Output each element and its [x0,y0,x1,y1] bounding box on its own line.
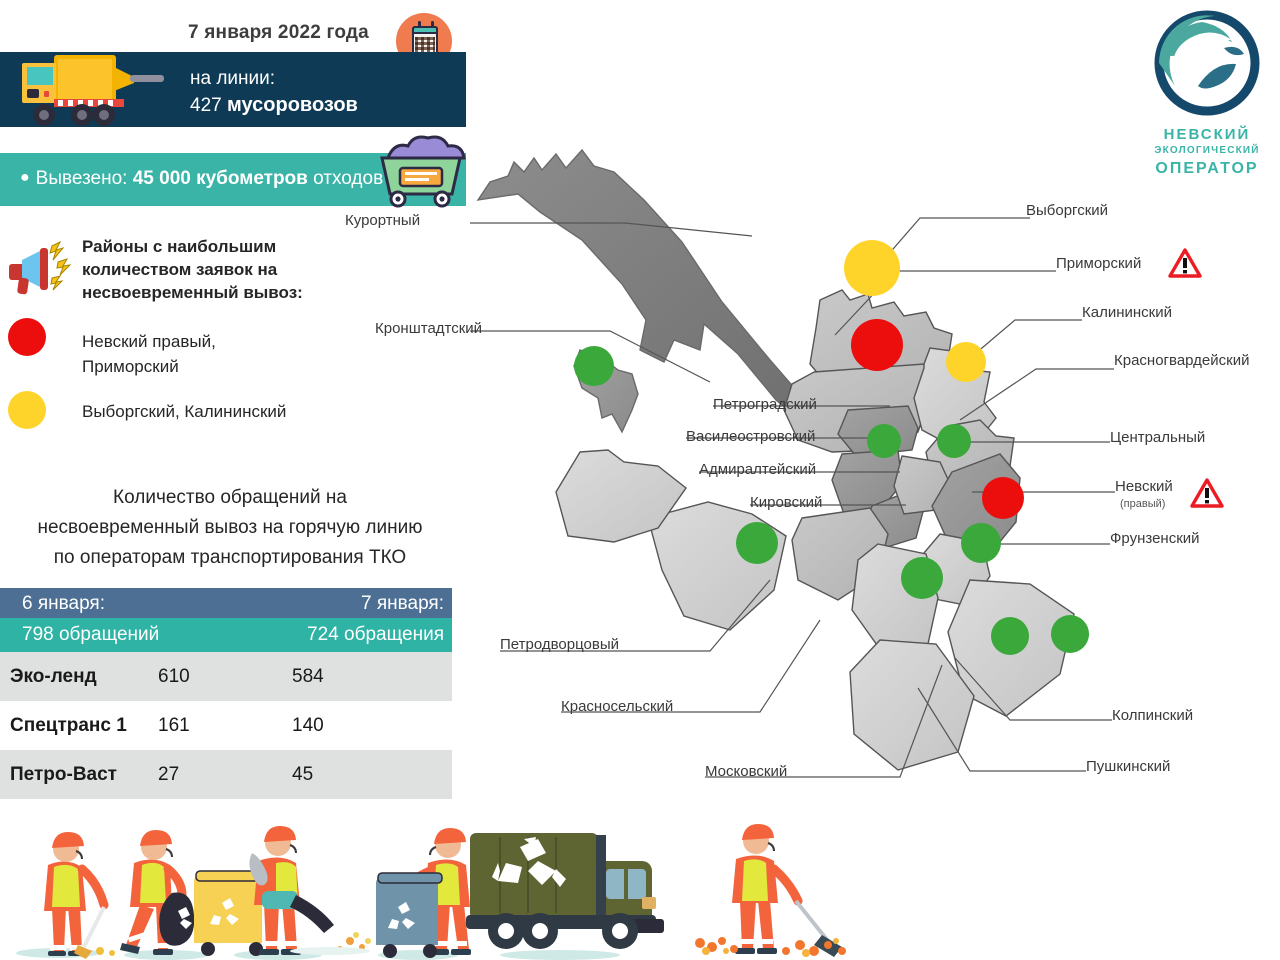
legend-title-line-1: Районы с наибольшим [82,235,303,258]
table-total-2: 724 обращения [307,624,444,646]
legend-dot-red [8,318,46,356]
logo-line-2: ЭКОЛОГИЧЕСКИЙ [1146,145,1268,156]
garbage-truck-icon [18,47,173,132]
table-row: Эко-ленд 610 584 [0,652,452,701]
map-label-kalininsky: Калининский [1082,304,1172,321]
table-title-line-1: Количество обращений на [0,483,460,513]
map-label-nevsky: Невский [1115,478,1173,495]
legend-label-red-line-1: Невский правый, [82,329,216,354]
operator-value-day2: 45 [292,764,313,786]
table-title-line-3: по операторам транспортирования ТКО [0,543,460,573]
map-label-krasnoselsky: Красносельский [561,698,673,715]
legend-title-line-2: количеством заявок на [82,258,303,281]
worker-pushing-bin [376,828,471,958]
company-logo: НЕВСКИЙ ЭКОЛОГИЧЕСКИЙ ОПЕРАТОР [1146,8,1268,188]
operator-name: Спецтранс 1 [10,715,127,737]
table-row: Спецтранс 1 161 140 [0,701,452,750]
on-line-label: на линии: [190,66,358,92]
map-label-kurortny: Курортный [345,212,420,229]
map-label-moskovsky: Московский [705,763,787,780]
table-header-dates: 6 января: 7 января: [0,588,452,618]
megaphone-icon [8,238,74,298]
map-label-kirovsky: Кировский [750,494,822,511]
operator-name: Эко-ленд [10,666,97,688]
on-line-value: 427 мусоровозов [190,92,358,119]
table-title-line-2: несвоевременный вывоз на горячую линию [0,513,460,543]
map-label-petrogradsky: Петроградский [713,396,817,413]
garbage-truck-illustration [466,833,664,949]
map-label-admiralteysky: Адмиралтейский [699,461,816,478]
marker-kalininsky [946,342,986,382]
bullet-icon: ● [20,169,30,186]
marker-frunzensky [961,523,1001,563]
marker-nevsky [982,477,1024,519]
marker-vyborgsky [844,240,900,296]
calendar-ring-right-icon [431,21,434,28]
operator-value-day1: 27 [158,764,179,786]
truck-count: 427 [190,95,222,116]
legend-label-yellow: Выборгский, Калининский [82,399,286,424]
waste-cart-icon [370,124,470,208]
on-line-text: на линии: 427 мусоровозов [190,66,358,119]
logo-line-1: НЕВСКИЙ [1146,126,1268,143]
map-label-pushkinsky: Пушкинский [1086,758,1170,775]
operator-value-day1: 161 [158,715,190,737]
table-title: Количество обращений на несвоевременный … [0,483,460,573]
removed-volume-text: ●Вывезено: 45 000 кубометров отходов [20,168,383,190]
marker-kolpinsky [991,617,1029,655]
truck-count-unit: мусоровозов [227,94,358,116]
logo-line-3: ОПЕРАТОР [1146,160,1268,178]
table-header-date-1: 6 января: [22,593,105,615]
marker-pushkinsky [1051,615,1089,653]
map-label-petrodvortsovy: Петродворцовый [500,636,619,653]
marker-vasileostrovsky [867,424,901,458]
marker-moskovsky [901,557,943,599]
worker-raking [695,824,846,957]
map-label-kronshtadtsky: Кронштадтский [375,320,482,337]
leaf-circle-logo-icon [1146,8,1268,120]
map-label-vasileostrovsky: Василеостровский [686,428,815,445]
map-label-nevsky-sub: (правый) [1120,498,1165,510]
warning-icon-primorsky [1168,248,1202,278]
table-total-1: 798 обращений [22,624,159,646]
map-label-frunzensky: Фрунзенский [1110,530,1200,547]
operator-value-day1: 610 [158,666,190,688]
sanitation-workers-illustration [0,815,860,960]
map-label-kolpinsky: Колпинский [1112,707,1193,724]
legend-label-red: Невский правый, Приморский [82,329,216,379]
calendar-grid-icon [415,37,435,52]
infographic-page: 7 января 2022 года на линии: 427 мусоров… [0,0,1280,960]
worker-leaf-blower [249,826,371,955]
removed-label: Вывезено: [36,168,128,189]
page-date: 7 января 2022 года [188,22,369,44]
map-label-krasnogvardeysky: Красногвардейский [1114,352,1249,369]
calendar-icon-header [412,26,438,34]
marker-kronshtadtsky [574,346,614,386]
marker-krasnoselsky [736,522,778,564]
map-region-krasnoselsky [648,502,786,630]
worker-with-bag [120,830,268,956]
table-header-date-2: 7 января: [361,593,444,615]
legend-dot-yellow [8,391,46,429]
map-label-primorsky: Приморский [1056,255,1141,272]
worker-sweeping [44,832,115,959]
map-label-vyborgsky: Выборгский [1026,202,1108,219]
table-row: Петро-Васт 27 45 [0,750,452,799]
operator-name: Петро-Васт [10,764,117,786]
complaints-table: 6 января: 7 января: 798 обращений 724 об… [0,588,452,799]
map-label-centralny: Центральный [1110,429,1205,446]
warning-icon-nevsky [1190,478,1224,508]
calendar-ring-left-icon [418,21,421,28]
legend-label-red-line-2: Приморский [82,354,216,379]
marker-krasnogvardeysky [937,424,971,458]
marker-primorsky [851,319,903,371]
removed-value: 45 000 кубометров [133,168,308,189]
table-header-totals: 798 обращений 724 обращения [0,618,452,652]
operator-value-day2: 584 [292,666,324,688]
legend-title-line-3: несвоевременный вывоз: [82,281,303,304]
map-region-kurortny [478,150,810,418]
legend-title: Районы с наибольшим количеством заявок н… [82,235,303,304]
operator-value-day2: 140 [292,715,324,737]
